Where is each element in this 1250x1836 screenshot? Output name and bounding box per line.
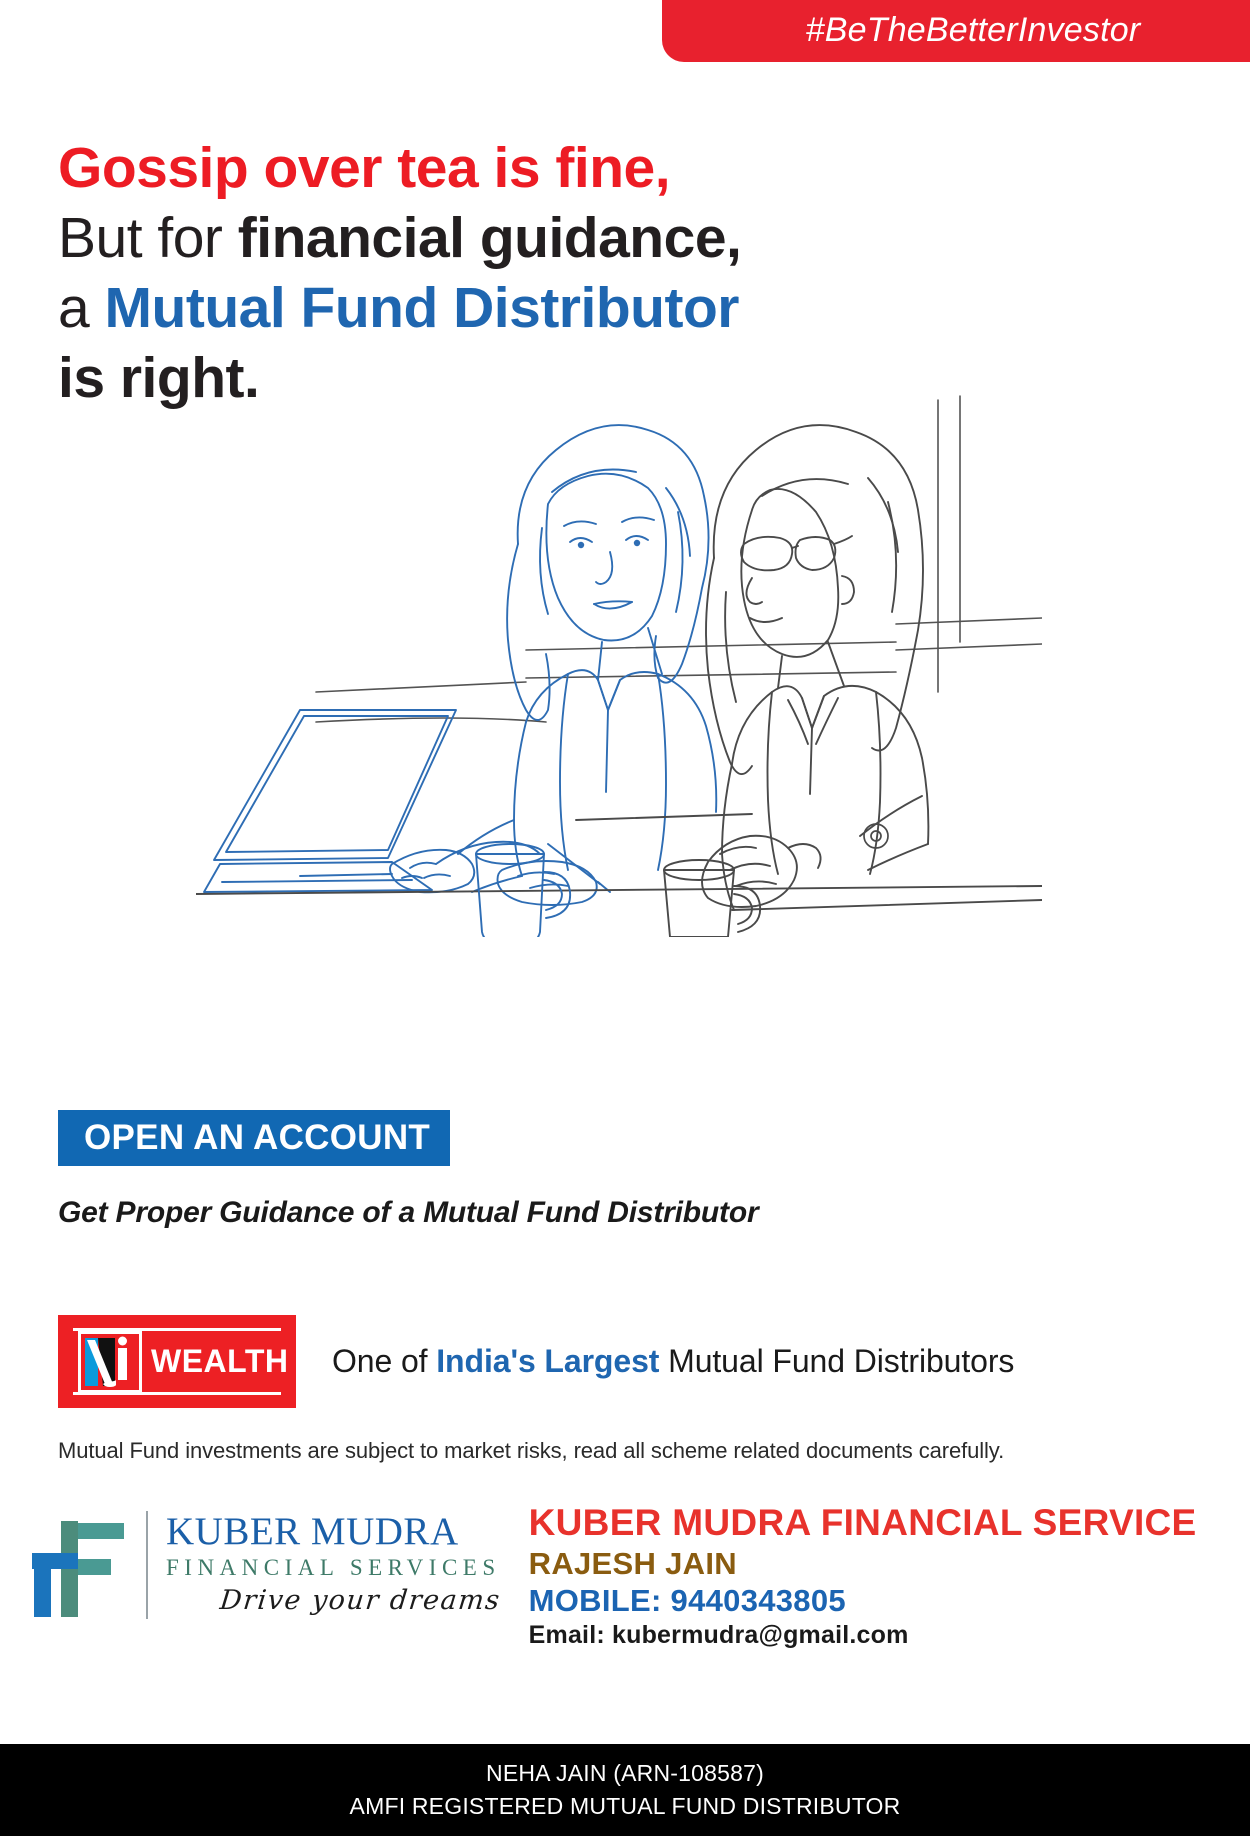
poster-canvas: #BeTheBetterInvestor Gossip over tea is … [0,0,1250,1836]
hashtag-text: #BeTheBetterInvestor [772,11,1141,52]
logo-divider [146,1511,148,1619]
nj-monogram-icon [78,1331,142,1393]
headline-line-3-bold: Mutual Fund Distributor [105,276,739,340]
meeting-illustration [196,392,1042,937]
distributor-block: KUBER MUDRA FINANCIAL SERVICES Drive you… [26,1497,1226,1712]
nj-tagline-post: Mutual Fund Distributors [659,1343,1014,1379]
nj-wealth-wordmark: WEALTH [151,1343,288,1380]
headline-block: Gossip over tea is fine, But for financi… [58,133,918,413]
open-account-button[interactable]: OPEN AN ACCOUNT [58,1110,450,1166]
kuber-mudra-logo: KUBER MUDRA FINANCIAL SERVICES Drive you… [26,1509,501,1621]
footer-bar: NEHA JAIN (ARN-108587) AMFI REGISTERED M… [0,1744,1250,1836]
headline-line-1: Gossip over tea is fine, [58,133,918,203]
cta-subtitle: Get Proper Guidance of a Mutual Fund Dis… [58,1196,758,1230]
kuber-mudra-name: KUBER MUDRA [166,1511,501,1553]
nj-tagline: One of India's Largest Mutual Fund Distr… [332,1343,1014,1380]
headline-line-2-light: But for [58,206,238,270]
headline-line-3: a Mutual Fund Distributor [58,273,918,343]
nj-tagline-pre: One of [332,1343,436,1379]
hashtag-banner: #BeTheBetterInvestor [662,0,1250,62]
nj-wealth-row: WEALTH One of India's Largest Mutual Fun… [58,1315,1014,1408]
contact-firm-name: KUBER MUDRA FINANCIAL SERVICE [529,1501,1197,1545]
footer-arn-line: NEHA JAIN (ARN-108587) [486,1757,764,1790]
kuber-mudra-subtitle: FINANCIAL SERVICES [166,1553,501,1583]
headline-line-2: But for financial guidance, [58,203,918,273]
risk-disclaimer: Mutual Fund investments are subject to m… [58,1438,1004,1464]
nj-wealth-logo: WEALTH [58,1315,296,1408]
kuber-mudra-wordmark: KUBER MUDRA FINANCIAL SERVICES Drive you… [166,1511,501,1619]
contact-mobile[interactable]: MOBILE: 9440343805 [529,1582,1197,1619]
kuber-mudra-tagline: Drive your dreams [164,1583,502,1619]
nj-tagline-emphasis: India's Largest [436,1343,659,1379]
headline-line-2-bold: financial guidance, [238,206,742,270]
open-account-label: OPEN AN ACCOUNT [58,1118,430,1158]
contact-person-name: RAJESH JAIN [529,1545,1197,1582]
contact-details: KUBER MUDRA FINANCIAL SERVICE RAJESH JAI… [529,1497,1197,1651]
footer-registration-line: AMFI REGISTERED MUTUAL FUND DISTRIBUTOR [350,1790,901,1823]
headline-line-1-text: Gossip over tea is fine, [58,136,670,200]
kuber-mudra-emblem-icon [26,1509,132,1621]
contact-email[interactable]: Email: kubermudra@gmail.com [529,1619,1197,1651]
headline-line-3-light: a [58,276,105,340]
